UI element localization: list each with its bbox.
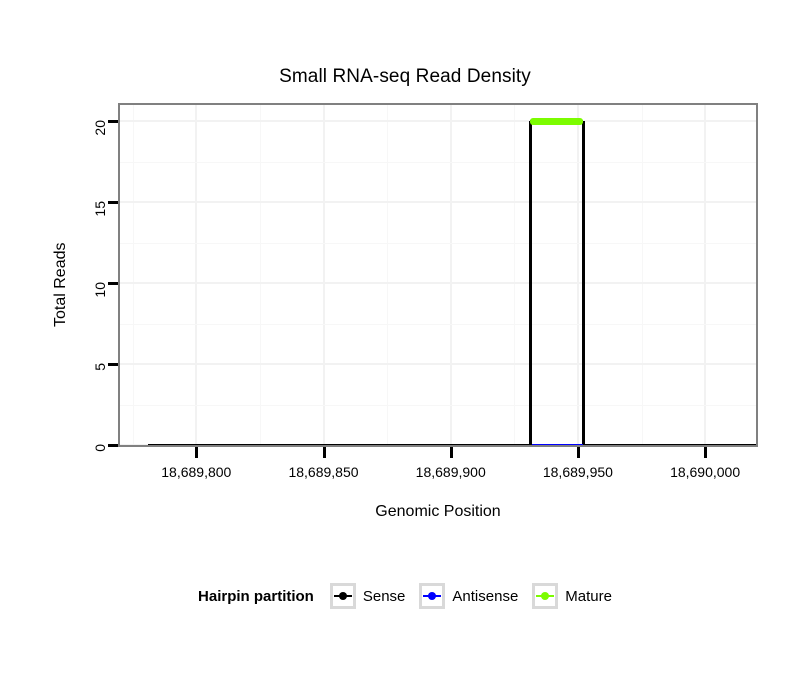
- legend-entries: SenseAntisenseMature: [330, 583, 612, 609]
- sense-riser: [529, 121, 532, 445]
- y-axis-tick-label: 15: [92, 201, 108, 261]
- gridline-vertical-major: [450, 105, 452, 445]
- legend-label: Antisense: [452, 588, 518, 605]
- legend-title: Hairpin partition: [198, 588, 314, 605]
- x-axis-title: Genomic Position: [118, 503, 758, 521]
- y-axis-tick-label: 20: [92, 120, 108, 180]
- sense-segment: [583, 444, 758, 447]
- legend-key-antisense-icon: [419, 583, 445, 609]
- y-axis-tick: [108, 444, 118, 447]
- gridline-horizontal-major: [120, 120, 756, 122]
- y-axis-tick: [108, 282, 118, 285]
- gridline-vertical-minor: [260, 105, 261, 445]
- gridline-vertical-major: [577, 105, 579, 445]
- gridline-horizontal-major: [120, 282, 756, 284]
- y-axis-tick: [108, 363, 118, 366]
- gridline-vertical-major: [704, 105, 706, 445]
- legend-entry-sense[interactable]: Sense: [330, 583, 406, 609]
- plot-panel: [118, 103, 758, 447]
- x-axis-tick: [323, 447, 326, 458]
- x-axis-tick-label: 18,689,850: [264, 464, 384, 480]
- gridline-horizontal-minor: [120, 405, 756, 406]
- legend-key-dot-icon: [339, 592, 347, 600]
- legend-entry-antisense[interactable]: Antisense: [419, 583, 518, 609]
- gridline-horizontal-minor: [120, 324, 756, 325]
- gridline-vertical-major: [323, 105, 325, 445]
- y-axis-tick: [108, 120, 118, 123]
- x-axis-tick-label: 18,690,000: [645, 464, 765, 480]
- legend-label: Mature: [565, 588, 612, 605]
- gridline-horizontal-major: [120, 363, 756, 365]
- x-axis-tick-label: 18,689,950: [518, 464, 638, 480]
- gridline-horizontal-major: [120, 201, 756, 203]
- legend-key-dot-icon: [428, 592, 436, 600]
- sense-segment: [148, 444, 530, 447]
- x-axis-tick: [704, 447, 707, 458]
- antisense-segment: [532, 444, 583, 447]
- y-axis-title: Total Reads: [52, 243, 70, 328]
- y-axis-tick: [108, 201, 118, 204]
- x-axis-tick: [195, 447, 198, 458]
- legend-key-sense-icon: [330, 583, 356, 609]
- y-axis-tick-label: 10: [92, 282, 108, 342]
- chart-figure: Small RNA-seq Read Density Total Reads 0…: [0, 0, 810, 690]
- legend-key-mature-icon: [532, 583, 558, 609]
- gridline-vertical-minor: [514, 105, 515, 445]
- y-axis-tick-label: 0: [92, 444, 108, 504]
- legend-label: Sense: [363, 588, 406, 605]
- legend-entry-mature[interactable]: Mature: [532, 583, 612, 609]
- y-axis-tick-label: 5: [92, 363, 108, 423]
- x-axis-tick-label: 18,689,800: [136, 464, 256, 480]
- mature-segment: [530, 118, 583, 125]
- page-title: Small RNA-seq Read Density: [0, 66, 810, 88]
- gridline-horizontal-minor: [120, 162, 756, 163]
- sense-riser: [582, 121, 585, 445]
- gridline-horizontal-minor: [120, 243, 756, 244]
- x-axis-tick: [450, 447, 453, 458]
- x-axis-tick-label: 18,689,900: [391, 464, 511, 480]
- plot-area: [120, 105, 756, 445]
- gridline-vertical-minor: [387, 105, 388, 445]
- gridline-vertical-minor: [133, 105, 134, 445]
- legend: Hairpin partition SenseAntisenseMature: [0, 583, 810, 609]
- gridline-vertical-minor: [642, 105, 643, 445]
- legend-key-dot-icon: [541, 592, 549, 600]
- gridline-vertical-major: [195, 105, 197, 445]
- x-axis-tick: [577, 447, 580, 458]
